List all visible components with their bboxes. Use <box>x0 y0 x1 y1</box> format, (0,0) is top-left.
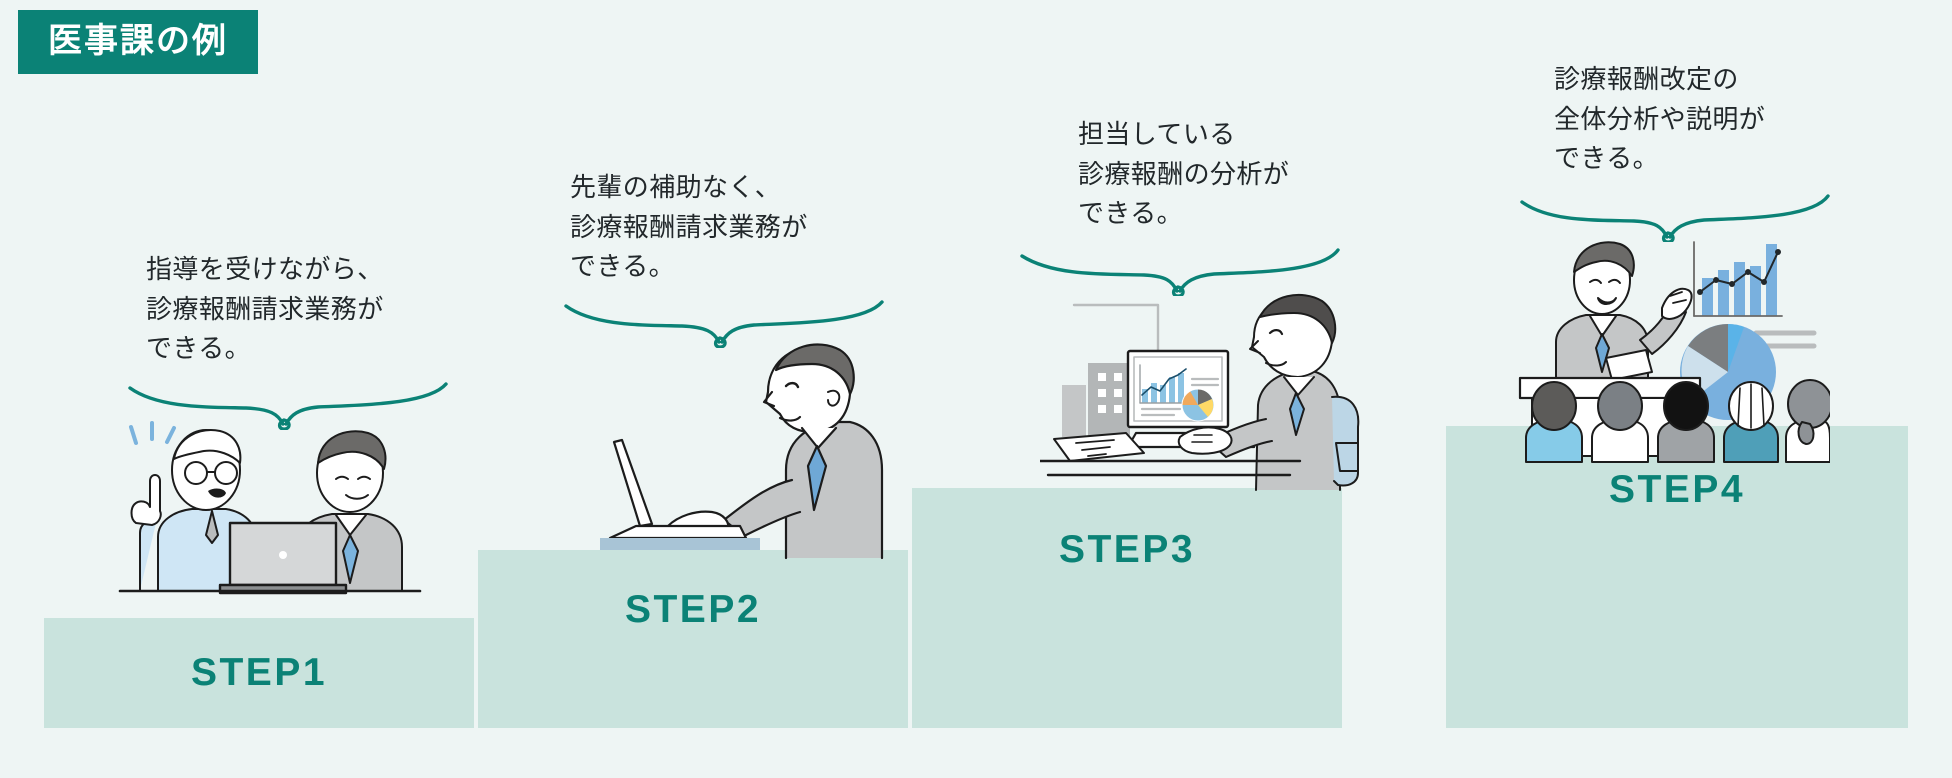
step-label-1: STEP1 <box>44 651 474 695</box>
step-caption-4: 診療報酬改定の 全体分析や説明が できる。 <box>1554 60 1765 179</box>
step-illustration-2 <box>600 330 890 570</box>
step-caption-1: 指導を受けながら、 診療報酬請求業務が できる。 <box>146 250 384 369</box>
step-illustration-3 <box>1040 285 1360 500</box>
section-title-badge: 医事課の例 <box>18 10 258 74</box>
step-label-2: STEP2 <box>478 588 908 632</box>
step-caption-3: 担当している 診療報酬の分析が できる。 <box>1078 115 1289 234</box>
step-label-3: STEP3 <box>912 528 1342 572</box>
step-block-1: STEP1 <box>44 618 474 728</box>
step-block-4: STEP4 <box>1446 426 1908 728</box>
step-illustration-4 <box>1510 230 1830 465</box>
infographic-stage: 医事課の例 STEP1 指導を受けながら、 診療報酬請求業務が できる。 <box>0 0 1952 778</box>
step-illustration-1 <box>100 415 440 605</box>
step-caption-2: 先輩の補助なく、 診療報酬請求業務が できる。 <box>570 168 808 287</box>
step-block-3: STEP3 <box>912 488 1342 728</box>
step-block-2: STEP2 <box>478 550 908 728</box>
step-label-4: STEP4 <box>1446 468 1908 512</box>
